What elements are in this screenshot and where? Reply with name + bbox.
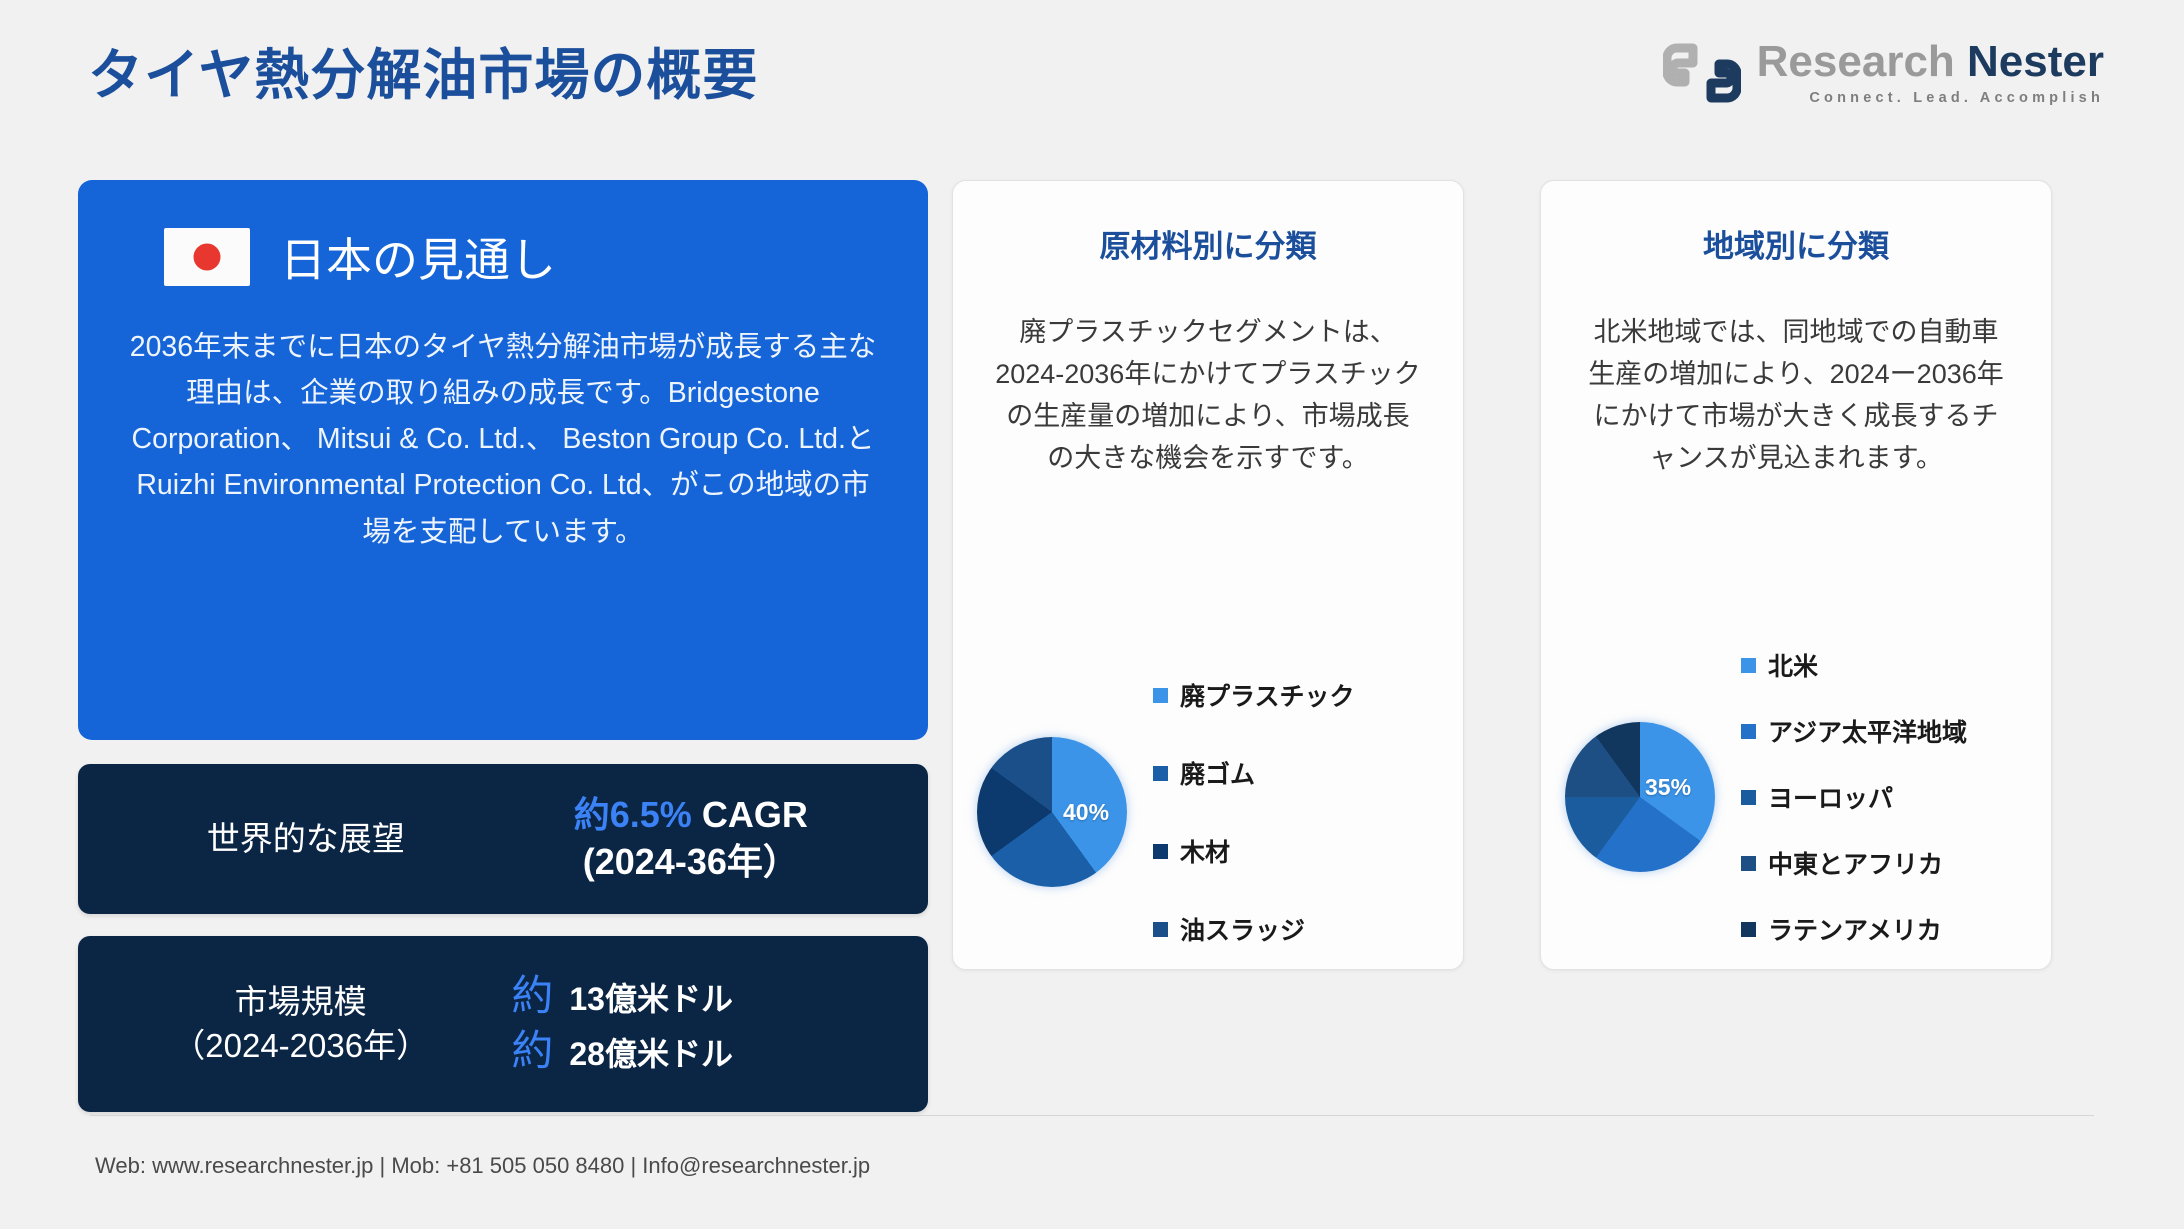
legend-item: 木材 — [1153, 833, 1439, 869]
legend-item-label: 北米 — [1768, 647, 1818, 683]
main-content: 日本の見通し 2036年末までに日本のタイヤ熱分解油市場が成長する主な理由は、企… — [0, 150, 2184, 1100]
market-size-row-2: 約 28億米ドル — [493, 1024, 898, 1079]
region-pie-wrap: 35% — [1565, 722, 1715, 872]
region-chart-zone: 35% 北米アジア太平洋地域ヨーロッパ中東とアフリカラテンアメリカ — [1541, 647, 2051, 947]
cagr-rest: CAGR — [692, 794, 808, 835]
market-size-values: 約 13億米ドル 約 28億米ドル — [493, 969, 898, 1078]
logo-tagline: Connect. Lead. Accomplish — [1757, 90, 2104, 106]
legend-item: アジア太平洋地域 — [1741, 713, 2027, 749]
cagr-line-2: (2024-36年） — [494, 839, 888, 886]
legend-swatch-icon — [1741, 922, 1756, 937]
segment-pie-wrap: 40% — [977, 737, 1127, 887]
legend-swatch-icon — [1153, 844, 1168, 859]
legend-item-label: 木材 — [1180, 833, 1230, 869]
legend-item: 北米 — [1741, 647, 2027, 683]
market-size-stat: 市場規模 （2024-2036年） 約 13億米ドル 約 28億米ドル — [78, 936, 928, 1112]
region-pie-chart — [1565, 722, 1715, 872]
legend-swatch-icon — [1153, 922, 1168, 937]
page-title: タイヤ熱分解油市場の概要 — [88, 30, 758, 110]
legend-swatch-icon — [1153, 766, 1168, 781]
infographic-page: タイヤ熱分解油市場の概要 Research Nester Connect. Le… — [0, 0, 2184, 1229]
legend-item: 油スラッジ — [1153, 911, 1439, 947]
legend-swatch-icon — [1153, 688, 1168, 703]
segment-by-raw-material-card: 原材料別に分類 廃プラスチックセグメントは、2024-2036年にかけてプラスチ… — [952, 180, 1464, 970]
logo-word-nester: Nester — [1967, 37, 2104, 86]
region-legend: 北米アジア太平洋地域ヨーロッパ中東とアフリカラテンアメリカ — [1715, 647, 2027, 947]
legend-item-label: ヨーロッパ — [1768, 779, 1893, 815]
legend-item: ラテンアメリカ — [1741, 911, 2027, 947]
japan-card-title: 日本の見通し — [280, 224, 556, 290]
left-column: 日本の見通し 2036年末までに日本のタイヤ熱分解油市場が成長する主な理由は、企… — [78, 180, 928, 1112]
legend-item-label: アジア太平洋地域 — [1768, 713, 1967, 749]
legend-swatch-icon — [1741, 724, 1756, 739]
market-size-row2-amount: 28億米ドル — [569, 1034, 733, 1076]
market-size-label: 市場規模 （2024-2036年） — [108, 980, 493, 1067]
segment-card-body: 廃プラスチックセグメントは、2024-2036年にかけてプラスチックの生産量の増… — [977, 312, 1439, 479]
region-card-title: 地域別に分類 — [1565, 221, 2027, 266]
brand-logo: Research Nester Connect. Lead. Accomplis… — [1663, 40, 2104, 106]
header: タイヤ熱分解油市場の概要 Research Nester Connect. Le… — [0, 0, 2184, 150]
footer-divider — [90, 1115, 2094, 1116]
global-outlook-value: 約6.5% CAGR (2024-36年） — [494, 792, 888, 886]
market-size-label-line2: （2024-2036年） — [108, 1024, 493, 1068]
logo-text: Research Nester Connect. Lead. Accomplis… — [1757, 40, 2104, 106]
market-size-label-line1: 市場規模 — [108, 980, 493, 1024]
market-size-row1-amount: 13億米ドル — [569, 979, 733, 1021]
legend-item-label: 油スラッジ — [1180, 911, 1305, 947]
global-outlook-stat: 世界的な展望 約6.5% CAGR (2024-36年） — [78, 764, 928, 914]
japan-outlook-card: 日本の見通し 2036年末までに日本のタイヤ熱分解油市場が成長する主な理由は、企… — [78, 180, 928, 740]
segment-chart-zone: 40% 廃プラスチック廃ゴム木材油スラッジ — [953, 677, 1463, 947]
legend-item-label: ラテンアメリカ — [1768, 911, 1942, 947]
japan-card-header: 日本の見通し — [116, 224, 890, 290]
legend-item: 廃プラスチック — [1153, 677, 1439, 713]
legend-swatch-icon — [1741, 658, 1756, 673]
global-outlook-label: 世界的な展望 — [118, 817, 494, 861]
market-size-row-1: 約 13億米ドル — [493, 969, 898, 1024]
segment-legend: 廃プラスチック廃ゴム木材油スラッジ — [1127, 677, 1439, 947]
cagr-line-1: 約6.5% CAGR — [494, 792, 888, 839]
japan-card-body: 2036年末までに日本のタイヤ熱分解油市場が成長する主な理由は、企業の取り組みの… — [116, 324, 890, 555]
legend-swatch-icon — [1741, 856, 1756, 871]
legend-item: 中東とアフリカ — [1741, 845, 2027, 881]
region-pie-value-label: 35% — [1645, 774, 1691, 801]
logo-wordmark: Research Nester — [1757, 40, 2104, 84]
logo-word-research: Research — [1757, 37, 1955, 86]
legend-item: ヨーロッパ — [1741, 779, 2027, 815]
legend-item: 廃ゴム — [1153, 755, 1439, 791]
legend-swatch-icon — [1741, 790, 1756, 805]
region-card-body: 北米地域では、同地域での自動車生産の増加により、2024ー2036年にかけて市場… — [1565, 312, 2027, 479]
segment-pie-value-label: 40% — [1063, 799, 1109, 826]
footer: Web: www.researchnester.jp | Mob: +81 50… — [0, 1109, 2184, 1229]
segment-by-region-card: 地域別に分類 北米地域では、同地域での自動車生産の増加により、2024ー2036… — [1540, 180, 2052, 970]
linked-chain-icon — [1663, 42, 1741, 104]
market-size-row1-accent: 約 — [511, 969, 553, 1024]
market-size-row2-accent: 約 — [511, 1024, 553, 1079]
legend-item-label: 中東とアフリカ — [1768, 845, 1943, 881]
footer-contact-text: Web: www.researchnester.jp | Mob: +81 50… — [95, 1153, 870, 1179]
japan-flag-icon — [164, 228, 250, 286]
cagr-accent: 約6.5% — [574, 794, 692, 835]
legend-item-label: 廃プラスチック — [1180, 677, 1355, 713]
segment-card-title: 原材料別に分類 — [977, 221, 1439, 266]
legend-item-label: 廃ゴム — [1180, 755, 1255, 791]
